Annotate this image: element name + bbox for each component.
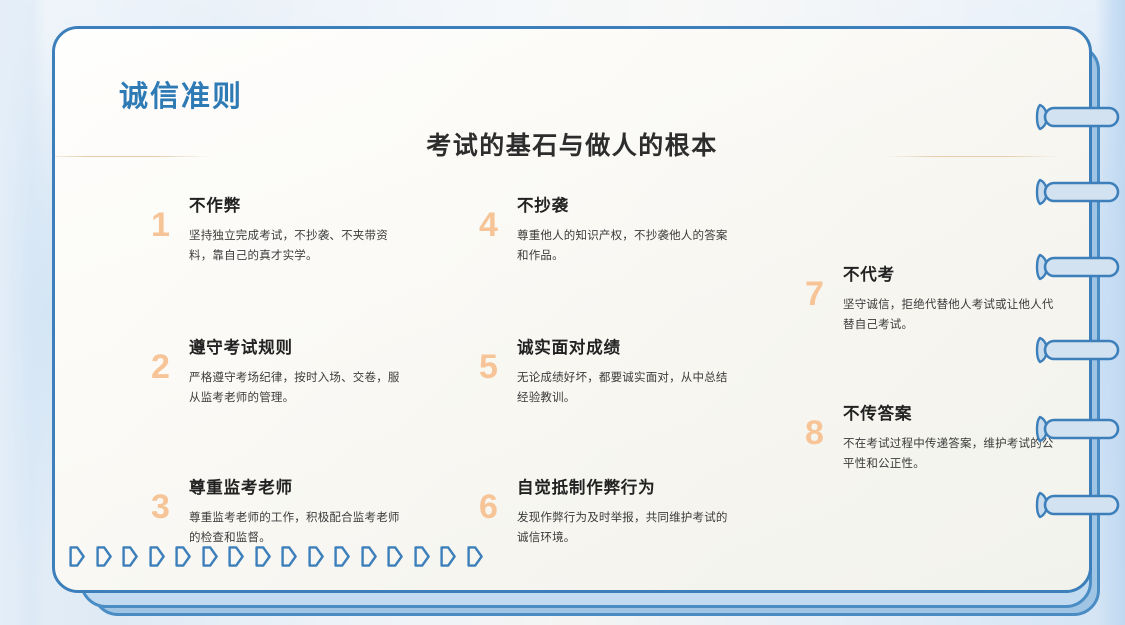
- principle-item-7: 7 不代考 坚守诚信，拒绝代替他人考试或让他人代替自己考试。: [805, 261, 1063, 336]
- principle-item-8: 8 不传答案 不在考试过程中传递答案，维护考试的公平性和公正性。: [805, 400, 1063, 475]
- principle-item-4: 4 不抄袭 尊重他人的知识产权，不抄袭他人的答案和作品。: [479, 192, 737, 267]
- principle-description: 无论成绩好坏，都要诚实面对，从中总结经验教训。: [517, 369, 737, 409]
- principle-description: 尊重监考老师的工作，积极配合监考老师的检查和监督。: [189, 509, 409, 549]
- pennant-arrow-icon: [202, 546, 218, 567]
- principle-number: 8: [805, 416, 824, 450]
- principle-description: 严格遵守考场纪律，按时入场、交卷，服从监考老师的管理。: [189, 369, 409, 409]
- principle-title: 尊重监考老师: [189, 474, 409, 498]
- principle-description: 发现作弊行为及时举报，共同维护考试的诚信环境。: [517, 509, 737, 549]
- notebook-page-card: 诚信准则 考试的基石与做人的根本 1 不作弊 坚持独立完成考试，不抄袭、不夹带资…: [52, 26, 1092, 593]
- principle-body: 不作弊 坚持独立完成考试，不抄袭、不夹带资料，靠自己的真才实学。: [189, 192, 409, 267]
- main-heading: 考试的基石与做人的根本: [55, 126, 1089, 162]
- principle-description: 坚守诚信，拒绝代替他人考试或让他人代替自己考试。: [843, 296, 1063, 336]
- principle-title: 不作弊: [189, 192, 409, 216]
- pennant-arrow-icon: [414, 546, 430, 567]
- pennant-arrow-icon: [387, 546, 403, 567]
- pennant-arrow-icon: [175, 546, 191, 567]
- principle-body: 遵守考试规则 严格遵守考场纪律，按时入场、交卷，服从监考老师的管理。: [189, 334, 409, 409]
- principle-number: 2: [151, 350, 170, 384]
- principle-title: 不代考: [843, 261, 1063, 285]
- principle-number: 4: [479, 208, 498, 242]
- pennant-arrow-icon: [308, 546, 324, 567]
- page-title: 诚信准则: [119, 73, 243, 115]
- principle-body: 不抄袭 尊重他人的知识产权，不抄袭他人的答案和作品。: [517, 192, 737, 267]
- principle-description: 尊重他人的知识产权，不抄袭他人的答案和作品。: [517, 227, 737, 267]
- principle-number: 1: [151, 208, 170, 242]
- pennant-arrow-icon: [96, 546, 112, 567]
- pennant-arrow-icon: [281, 546, 297, 567]
- principle-body: 尊重监考老师 尊重监考老师的工作，积极配合监考老师的检查和监督。: [189, 474, 409, 549]
- left-edge-band: [0, 0, 46, 625]
- principle-description: 坚持独立完成考试，不抄袭、不夹带资料，靠自己的真才实学。: [189, 227, 409, 267]
- principle-title: 不传答案: [843, 400, 1063, 424]
- principle-item-1: 1 不作弊 坚持独立完成考试，不抄袭、不夹带资料，靠自己的真才实学。: [151, 192, 409, 267]
- pennant-arrow-icon: [149, 546, 165, 567]
- principle-title: 自觉抵制作弊行为: [517, 474, 737, 498]
- principle-title: 诚实面对成绩: [517, 334, 737, 358]
- heading-row: 考试的基石与做人的根本: [55, 126, 1089, 170]
- pennant-arrow-icon: [122, 546, 138, 567]
- principle-item-2: 2 遵守考试规则 严格遵守考场纪律，按时入场、交卷，服从监考老师的管理。: [151, 334, 409, 409]
- principle-item-6: 6 自觉抵制作弊行为 发现作弊行为及时举报，共同维护考试的诚信环境。: [479, 474, 737, 549]
- pennant-decoration-strip: [69, 546, 483, 567]
- pennant-arrow-icon: [467, 546, 483, 567]
- pennant-arrow-icon: [440, 546, 456, 567]
- principle-number: 5: [479, 350, 498, 384]
- principle-body: 不代考 坚守诚信，拒绝代替他人考试或让他人代替自己考试。: [843, 261, 1063, 336]
- principle-body: 自觉抵制作弊行为 发现作弊行为及时举报，共同维护考试的诚信环境。: [517, 474, 737, 549]
- pennant-arrow-icon: [228, 546, 244, 567]
- pennant-arrow-icon: [361, 546, 377, 567]
- principle-title: 不抄袭: [517, 192, 737, 216]
- pennant-arrow-icon: [69, 546, 85, 567]
- principle-body: 不传答案 不在考试过程中传递答案，维护考试的公平性和公正性。: [843, 400, 1063, 475]
- principle-number: 3: [151, 490, 170, 524]
- principle-number: 6: [479, 490, 498, 524]
- pennant-arrow-icon: [334, 546, 350, 567]
- pennant-arrow-icon: [255, 546, 271, 567]
- principle-number: 7: [805, 277, 824, 311]
- principle-body: 诚实面对成绩 无论成绩好坏，都要诚实面对，从中总结经验教训。: [517, 334, 737, 409]
- principle-item-3: 3 尊重监考老师 尊重监考老师的工作，积极配合监考老师的检查和监督。: [151, 474, 409, 549]
- principle-item-5: 5 诚实面对成绩 无论成绩好坏，都要诚实面对，从中总结经验教训。: [479, 334, 737, 409]
- principle-description: 不在考试过程中传递答案，维护考试的公平性和公正性。: [843, 435, 1063, 475]
- principle-title: 遵守考试规则: [189, 334, 409, 358]
